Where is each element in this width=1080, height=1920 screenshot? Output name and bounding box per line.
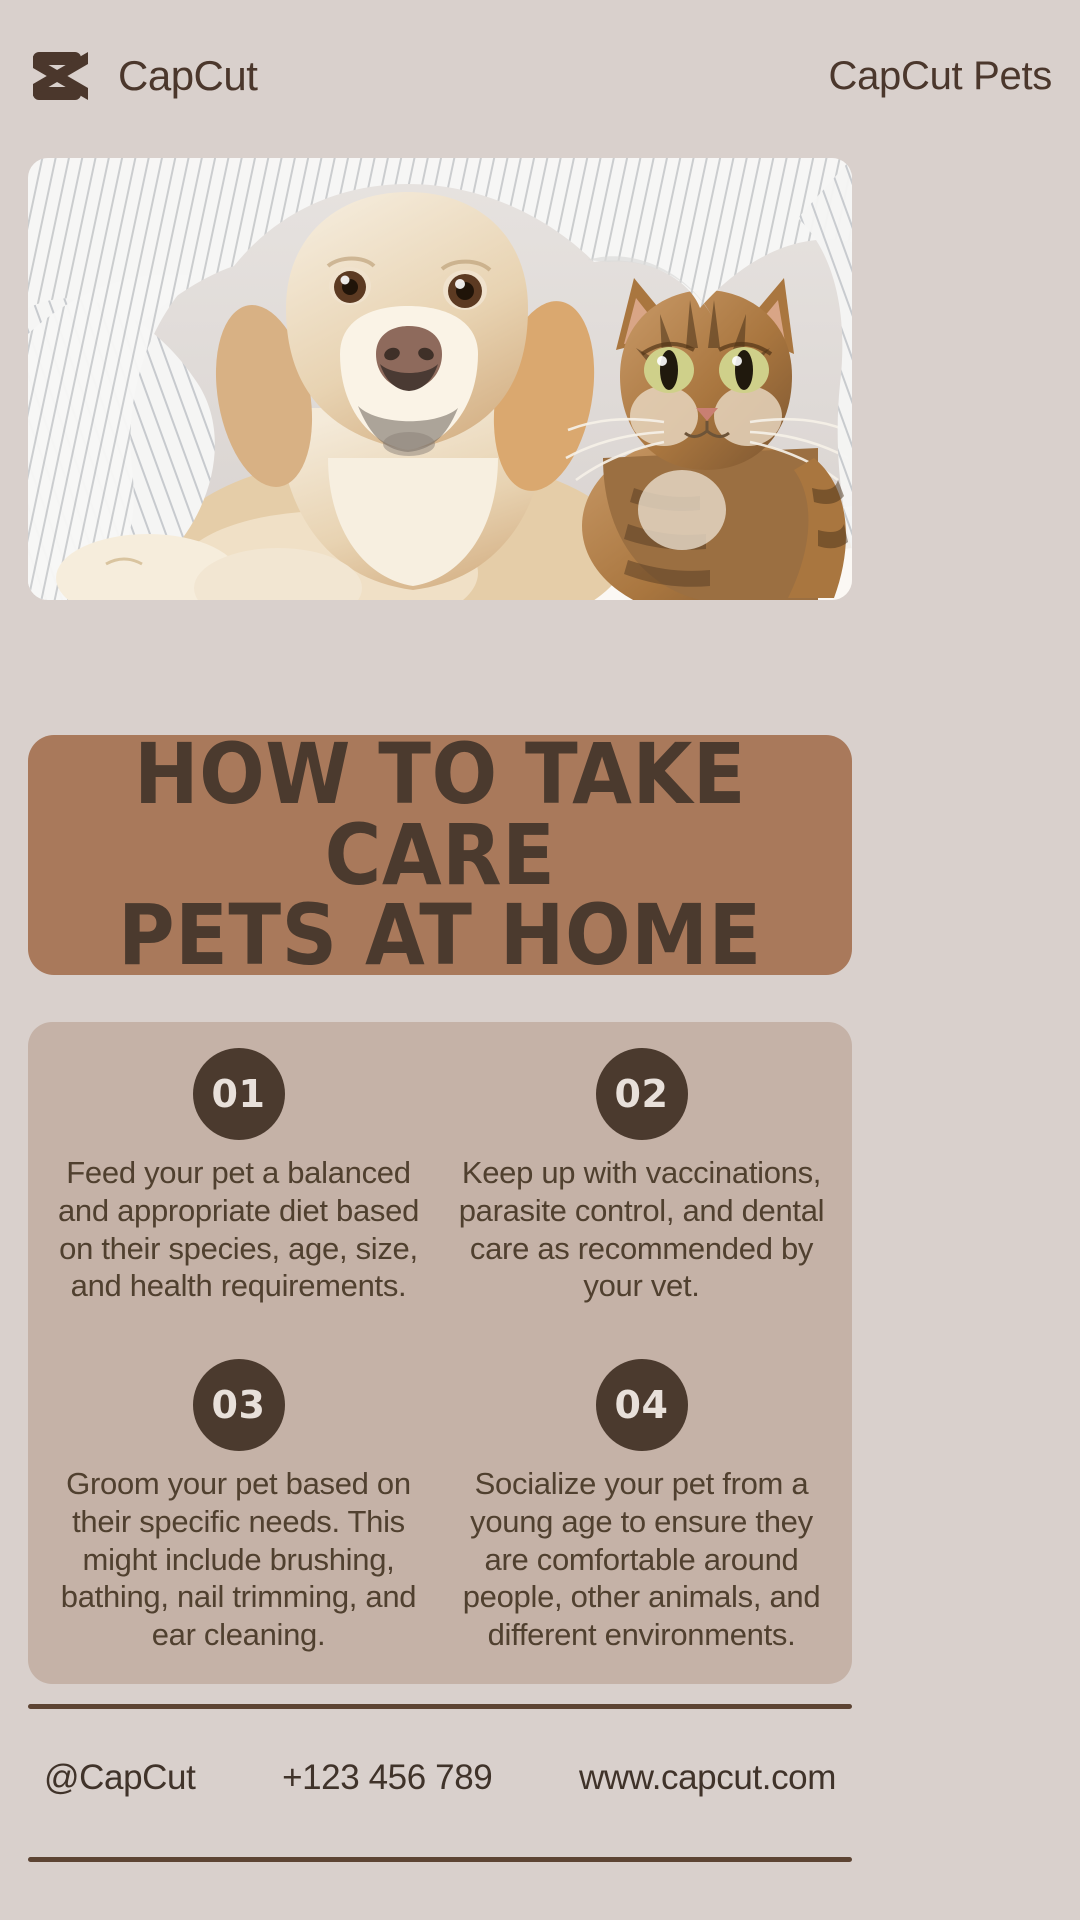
footer-website[interactable]: www.capcut.com (579, 1760, 836, 1795)
hero-photo (28, 158, 852, 600)
tip-number: 03 (212, 1386, 266, 1424)
footer-phone[interactable]: +123 456 789 (282, 1760, 492, 1795)
page-footer: @CapCut +123 456 789 www.capcut.com (28, 1742, 852, 1812)
dog-and-cat-illustration (28, 158, 852, 600)
tips-panel: 01 Feed your pet a balanced and appropri… (28, 1022, 852, 1684)
footer-social-handle[interactable]: @CapCut (44, 1760, 195, 1795)
tip-item-03: 03 Groom your pet based on their specifi… (42, 1359, 435, 1666)
footer-divider-bottom (28, 1857, 852, 1862)
header-right-label: CapCut Pets (829, 56, 1052, 96)
page-header: CapCut CapCut Pets (28, 40, 1052, 112)
tip-item-04: 04 Socialize your pet from a young age t… (445, 1359, 838, 1666)
footer-divider-top (28, 1704, 852, 1709)
page-title-line-2: PETS AT HOME (118, 895, 762, 976)
brand-name: CapCut (118, 55, 257, 97)
tip-number-badge: 02 (596, 1048, 688, 1140)
tip-number: 01 (212, 1075, 266, 1113)
tip-text: Keep up with vaccinations, parasite cont… (445, 1154, 838, 1305)
tip-number-badge: 03 (193, 1359, 285, 1451)
title-banner: HOW TO TAKE CARE PETS AT HOME (28, 735, 852, 975)
tip-number-badge: 01 (193, 1048, 285, 1140)
infographic-page: CapCut CapCut Pets (0, 0, 1080, 1920)
brand: CapCut (28, 48, 257, 104)
tip-number: 04 (615, 1386, 669, 1424)
tip-text: Groom your pet based on their specific n… (42, 1465, 435, 1654)
page-title-line-1: HOW TO TAKE CARE (61, 734, 819, 895)
tip-item-02: 02 Keep up with vaccinations, parasite c… (445, 1048, 838, 1355)
tip-number: 02 (615, 1075, 669, 1113)
tip-text: Feed your pet a balanced and appropriate… (42, 1154, 435, 1305)
tip-number-badge: 04 (596, 1359, 688, 1451)
tip-text: Socialize your pet from a young age to e… (445, 1465, 838, 1654)
capcut-logo-icon (28, 48, 100, 104)
tip-item-01: 01 Feed your pet a balanced and appropri… (42, 1048, 435, 1355)
